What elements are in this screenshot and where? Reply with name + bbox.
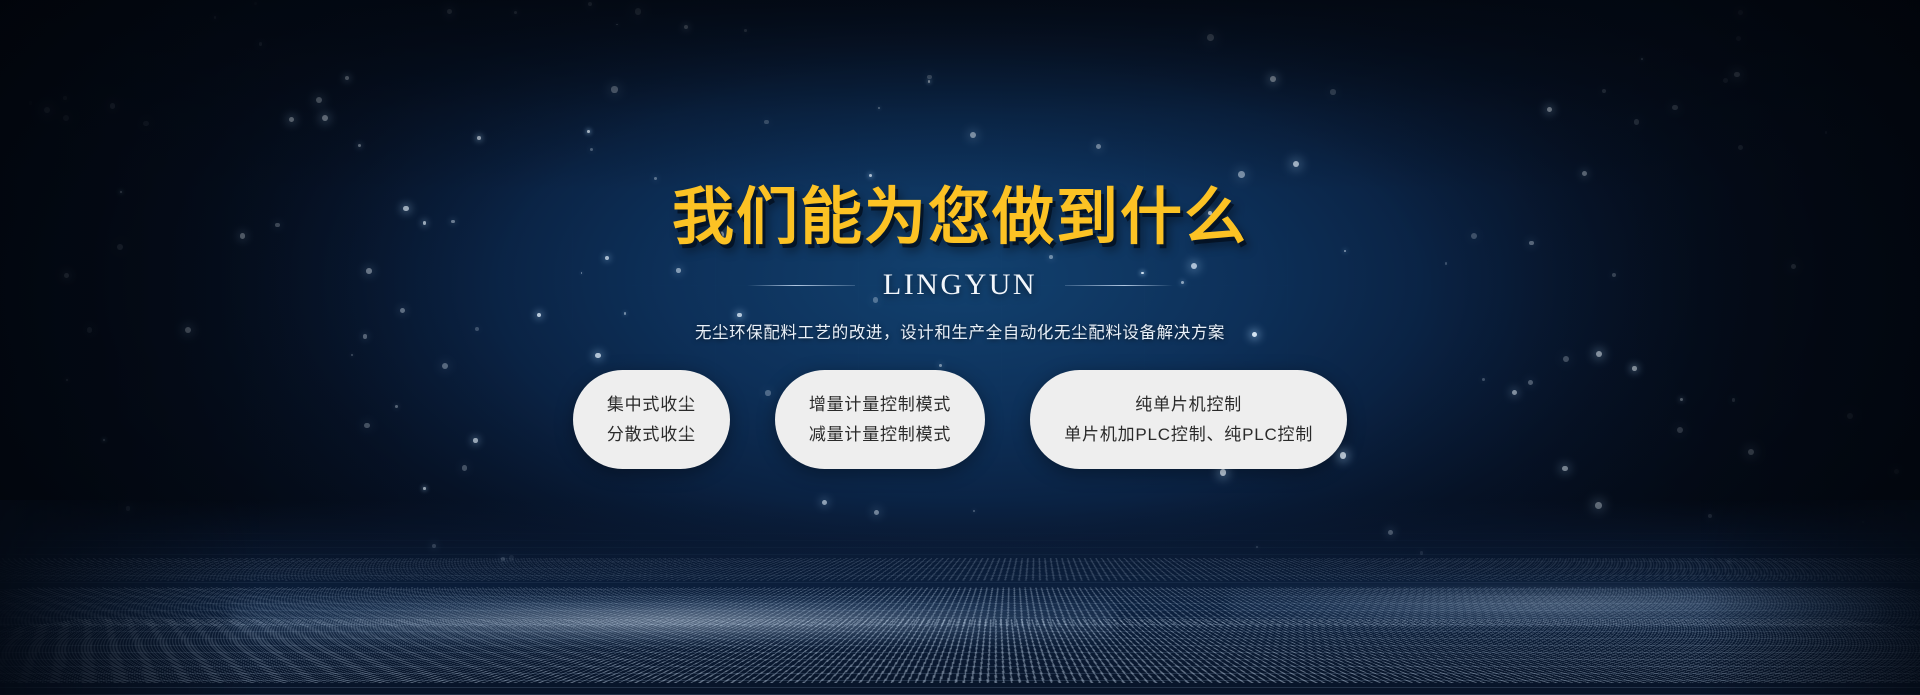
feature-card-line-1: 增量计量控制模式 [809, 394, 951, 415]
divider-line-right [1065, 285, 1173, 286]
feature-card-line-2: 分散式收尘 [607, 424, 696, 445]
feature-card-list: 集中式收尘 分散式收尘 增量计量控制模式 减量计量控制模式 纯单片机控制 单片机… [573, 370, 1347, 469]
feature-card-dust-collection[interactable]: 集中式收尘 分散式收尘 [573, 370, 730, 469]
feature-card-line-2: 减量计量控制模式 [809, 424, 951, 445]
feature-card-line-1: 集中式收尘 [607, 394, 696, 415]
page-title: 我们能为您做到什么 [672, 186, 1248, 248]
feature-card-line-2: 单片机加PLC控制、纯PLC控制 [1064, 424, 1313, 445]
brand-divider-row: LINGYUN [747, 268, 1173, 302]
feature-card-metering-mode[interactable]: 增量计量控制模式 减量计量控制模式 [775, 370, 985, 469]
divider-line-left [747, 285, 855, 286]
feature-card-control-system[interactable]: 纯单片机控制 单片机加PLC控制、纯PLC控制 [1030, 370, 1347, 469]
brand-name: LINGYUN [883, 268, 1037, 302]
hero-description: 无尘环保配料工艺的改进，设计和生产全自动化无尘配料设备解决方案 [695, 319, 1225, 343]
hero-banner: 我们能为您做到什么 LINGYUN 无尘环保配料工艺的改进，设计和生产全自动化无… [0, 0, 1920, 695]
hero-content: 我们能为您做到什么 LINGYUN 无尘环保配料工艺的改进，设计和生产全自动化无… [0, 0, 1920, 695]
feature-card-line-1: 纯单片机控制 [1135, 394, 1242, 415]
